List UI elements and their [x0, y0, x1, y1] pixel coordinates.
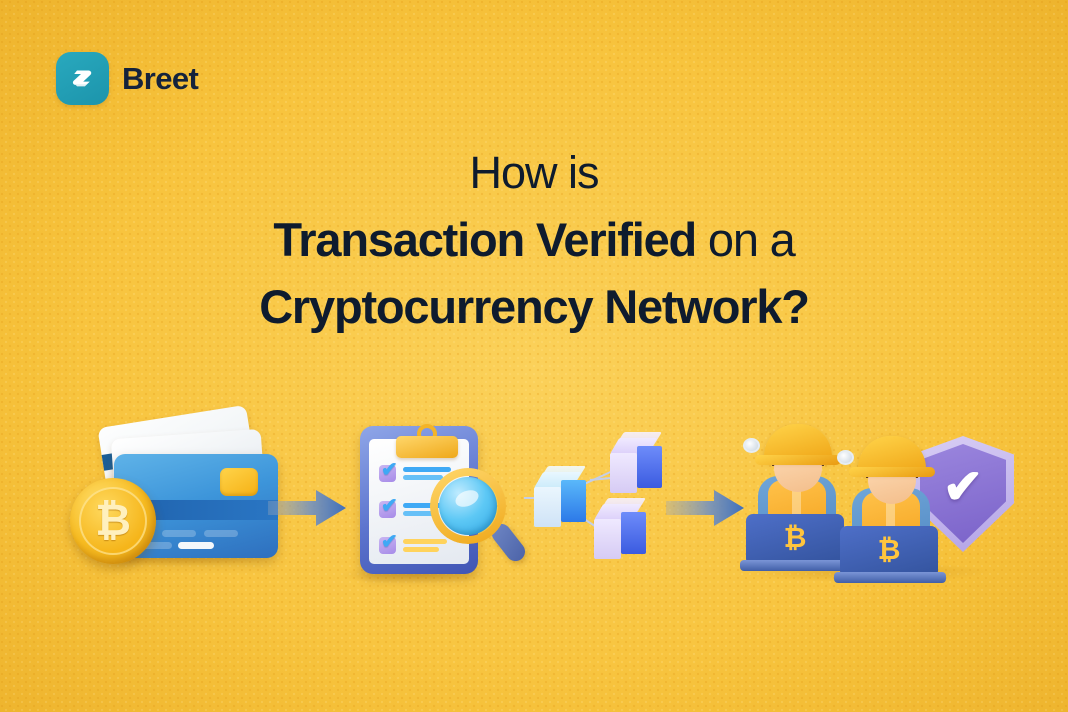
flow-arrow-2: [666, 488, 744, 533]
stage-transaction-initiated: ₿: [70, 410, 285, 580]
magnifying-glass-icon: [430, 468, 506, 544]
laptop-icon: ₿: [836, 526, 946, 584]
stage-miners-validate: ✔ ₿ ₿: [744, 412, 1034, 588]
stage-transaction-checked: ✔ ✔ ✔: [352, 406, 512, 582]
hard-hat-icon: [764, 424, 832, 462]
process-illustration: ₿ ✔ ✔: [0, 398, 1068, 608]
laptop-bitcoin-symbol: ₿: [840, 526, 938, 574]
headline-line-2-light: on a: [696, 213, 795, 266]
bitcoin-symbol: ₿: [79, 487, 147, 555]
magnifier-ring: [430, 468, 506, 544]
blockchain-cube-icon: [534, 472, 586, 530]
checkbox-checked-icon: ✔: [379, 537, 396, 554]
page-title: How is Transaction Verified on a Cryptoc…: [0, 150, 1068, 330]
headline-line-2-bold: Transaction Verified: [273, 213, 696, 266]
headline-line-2: Transaction Verified on a: [0, 216, 1068, 263]
headline-line-1: How is: [0, 150, 1068, 195]
miner-worker-icon: ₿: [838, 434, 946, 584]
checkbox-checked-icon: ✔: [379, 501, 396, 518]
blockchain-cube-icon: [610, 438, 662, 496]
clipboard-clip-icon: [396, 436, 458, 458]
headline-line-3: Cryptocurrency Network?: [0, 283, 1068, 330]
brand-logo[interactable]: Breet: [56, 52, 198, 105]
stage-broadcast-to-network: [524, 436, 689, 566]
flow-arrow-1: [268, 488, 346, 533]
brand-name: Breet: [122, 61, 198, 97]
card-chip-icon: [220, 468, 258, 496]
blockchain-cube-icon: [594, 504, 646, 562]
laptop-base: [834, 572, 946, 583]
breet-logo-icon: [56, 52, 109, 105]
helmet-lamp-icon: [837, 450, 854, 465]
laptop-bitcoin-symbol: ₿: [746, 514, 844, 562]
bitcoin-coin-icon: ₿: [70, 478, 156, 564]
checkbox-checked-icon: ✔: [379, 465, 396, 482]
helmet-lamp-icon: [743, 438, 760, 453]
hard-hat-icon: [858, 436, 926, 474]
